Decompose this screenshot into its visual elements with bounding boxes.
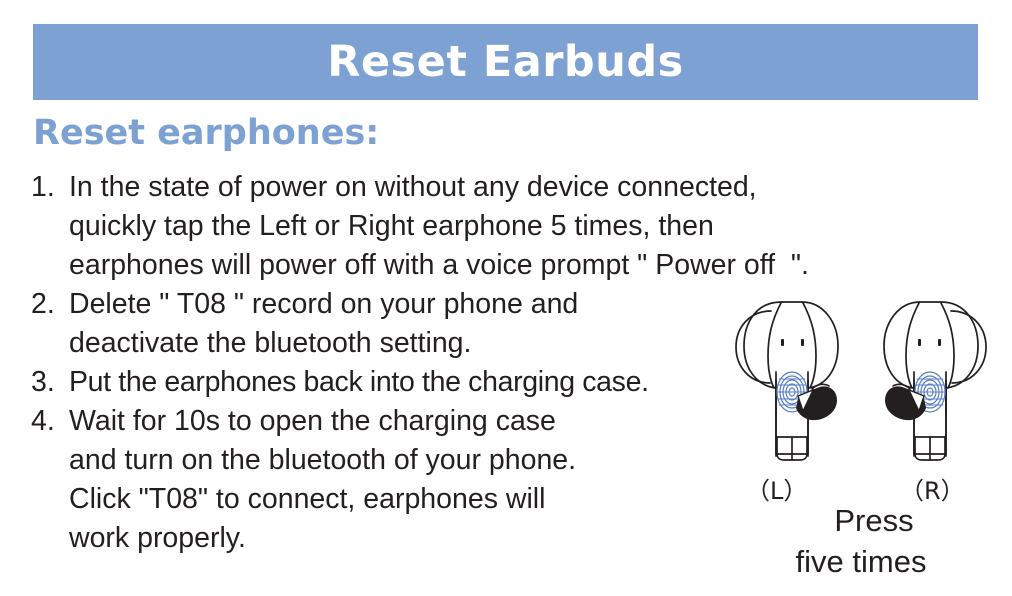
step-item-3: 3. Put the earphones back into the charg… — [31, 363, 731, 402]
tap-hand-icon — [885, 384, 926, 420]
steps-list: 1. In the state of power on without any … — [31, 168, 731, 558]
press-caption: Press five times — [716, 500, 1006, 582]
step-text: quickly tap the Left or Right earphone 5… — [69, 207, 731, 246]
step-text: Click "T08" to connect, earphones will — [69, 480, 731, 519]
header-banner: Reset Earbuds — [33, 24, 978, 100]
earbuds-illustration: （L） （R） Press five times — [716, 294, 1006, 586]
section-heading: Reset earphones: — [33, 114, 379, 153]
step-line: 2. Delete " T08 " record on your phone a… — [31, 285, 731, 324]
step-line: 1. quickly tap the Left or Right earphon… — [31, 207, 731, 246]
step-line: 4. Click "T08" to connect, earphones wil… — [31, 480, 731, 519]
step-text: Put the earphones back into the charging… — [69, 363, 731, 402]
step-line: 3. Put the earphones back into the charg… — [31, 363, 731, 402]
press-caption-line-2: five times — [716, 541, 1006, 582]
tap-hand-icon — [796, 384, 837, 420]
step-text: work properly. — [69, 519, 731, 558]
step-line: 4. work properly. — [31, 519, 731, 558]
step-text: and turn on the bluetooth of your phone. — [69, 441, 731, 480]
step-text: deactivate the bluetooth setting. — [69, 324, 731, 363]
step-number: 3. — [31, 363, 69, 402]
right-earbud-icon — [878, 294, 998, 480]
step-line: 4. and turn on the bluetooth of your pho… — [31, 441, 731, 480]
left-earbud-icon — [724, 294, 844, 480]
step-item-1: 1. In the state of power on without any … — [31, 168, 731, 285]
press-caption-line-1: Press — [716, 500, 1006, 541]
step-item-2: 2. Delete " T08 " record on your phone a… — [31, 285, 731, 363]
step-number: 2. — [31, 285, 69, 324]
step-line: 1. earphones will power off with a voice… — [31, 246, 731, 285]
step-text: Wait for 10s to open the charging case — [69, 402, 731, 441]
step-line: 4. Wait for 10s to open the charging cas… — [31, 402, 731, 441]
step-text: earphones will power off with a voice pr… — [69, 246, 809, 285]
step-text: Delete " T08 " record on your phone and — [69, 285, 731, 324]
earbuds-row — [716, 294, 1006, 480]
step-line: 2. deactivate the bluetooth setting. — [31, 324, 731, 363]
step-number: 4. — [31, 402, 69, 441]
step-item-4: 4. Wait for 10s to open the charging cas… — [31, 402, 731, 558]
page-title: Reset Earbuds — [327, 41, 683, 84]
step-line: 1. In the state of power on without any … — [31, 168, 731, 207]
step-text: In the state of power on without any dev… — [69, 168, 757, 207]
step-number: 1. — [31, 168, 69, 207]
